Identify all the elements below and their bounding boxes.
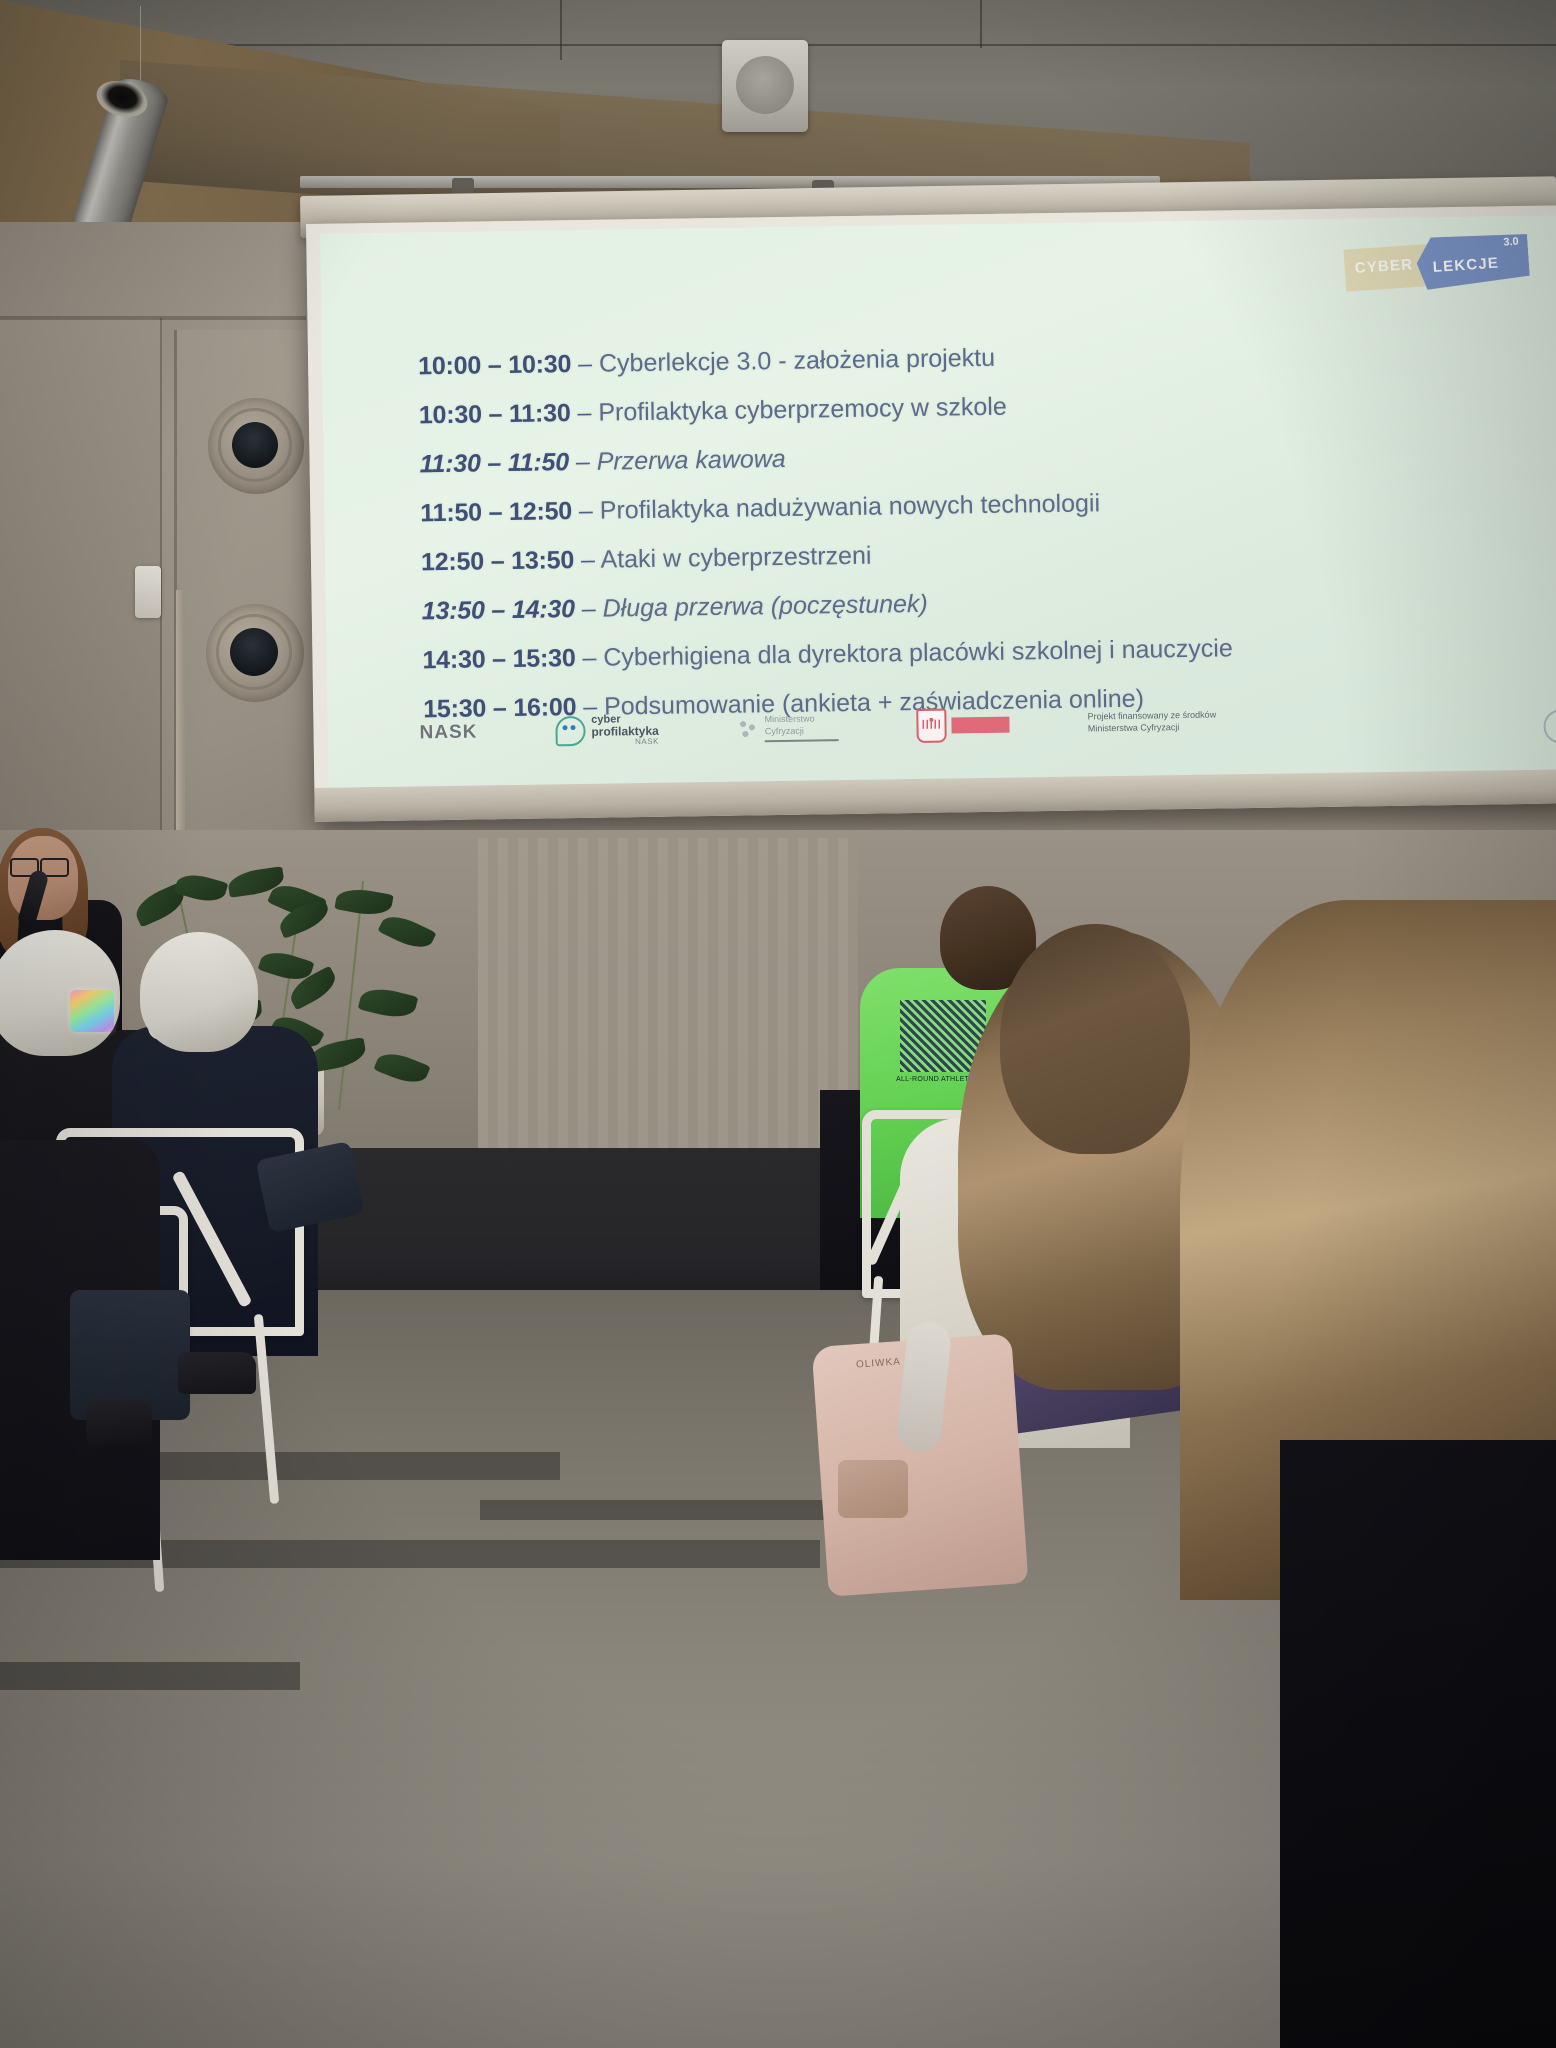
agenda-time: 11:30 – 11:50 [419,448,569,478]
agenda-dash: – [577,399,591,427]
agenda-dash: – [582,595,596,623]
agenda-row: 10:00 – 10:30 – Cyberlekcje 3.0 - założe… [418,335,1556,381]
agenda-time: 12:50 – 13:50 [421,546,574,576]
agenda-time: 11:50 – 12:50 [420,497,572,527]
agenda-label: Cyberhigiena dla dyrektora placówki szko… [603,634,1233,671]
agenda-label: Ataki w cyberprzestrzeni [600,542,871,574]
cyberlekcje-logo: CYBER LEKCJE 3.0 [1344,230,1525,293]
audience-member-head [140,932,258,1052]
foreground-person-body [1280,1440,1556,2048]
eagle-icon [916,709,947,743]
floor-stripe [480,1500,840,1520]
cyberprofilaktyka-face-icon [555,716,585,746]
ministry-line2: Cyfryzacji [765,725,839,737]
porthole-hole [230,628,278,676]
agenda-time: 10:00 – 10:30 [418,350,571,380]
phone-screen [70,990,114,1032]
agenda-label: Profilaktyka nadużywania nowych technolo… [600,489,1101,524]
agenda-dash: – [579,497,593,525]
ministry-logo: Ministerstwo Cyfryzacji [737,713,839,742]
logo-version: 3.0 [1503,236,1519,249]
funding-note: Projekt finansowany ze środków Ministers… [1088,710,1217,735]
plant-leaf [334,885,393,918]
floor-stripe [0,1662,300,1690]
flag-bar [952,717,1010,734]
duct-hanging-wire [140,6,141,84]
porthole-hole [232,422,278,468]
agenda-time: 13:50 – 14:30 [422,595,575,625]
wall-thermostat [135,566,161,618]
plant-leaf [373,1047,430,1089]
agenda-label: Cyberlekcje 3.0 - założenia projektu [599,344,995,378]
backpack-patch [838,1460,908,1518]
agenda-label: Przerwa kawowa [597,445,786,476]
agenda-row: 13:50 – 14:30 – Długa przerwa (poczęstun… [422,580,1556,626]
agenda-label: Profilaktyka cyberprzemocy w szkole [598,393,1007,427]
wall-panel-seam [0,316,306,320]
photo-scene: CYBER LEKCJE 3.0 10:00 – 10:30 – Cyberle… [0,0,1556,2048]
agenda-label: Długa przerwa (poczęstunek) [602,590,928,623]
nask-logo: NASK [419,722,477,745]
wall-porthole-vent [208,398,304,494]
funding-line1: Projekt finansowany ze środków [1088,710,1217,724]
agenda-row: 11:30 – 11:50 – Przerwa kawowa [419,433,1556,479]
ministry-glyph-icon [737,717,759,739]
ministry-underline [765,739,839,742]
cyberprofilaktyka-line3: NASK [592,738,659,747]
ministry-text: Ministerstwo Cyfryzacji [765,713,839,742]
wall-porthole-vent [206,604,304,702]
plant-leaf [285,966,340,1011]
agenda-dash: – [576,448,590,476]
presentation-slide: CYBER LEKCJE 3.0 10:00 – 10:30 – Cyberle… [320,215,1556,789]
agenda-dash: – [582,644,596,672]
plant-leaf [377,909,436,954]
ceiling-tile-seam [560,0,562,60]
agenda-dash: – [578,350,592,378]
ceiling-tile-seam [980,0,982,48]
agenda-row: 12:50 – 13:50 – Ataki w cyberprzestrzeni [421,531,1556,577]
agenda-row: 11:50 – 12:50 – Profilaktyka nadużywania… [420,482,1556,528]
plant-leaf [358,984,419,1023]
wall-curtain [478,838,858,1168]
plant-leaf [275,897,332,939]
agenda-dash: – [581,546,595,574]
funding-line2: Ministerstwa Cyfryzacji [1088,722,1217,736]
polish-emblem-logo [916,708,1009,743]
spotlight [452,178,474,194]
shoe [178,1352,256,1394]
projection-screen: CYBER LEKCJE 3.0 10:00 – 10:30 – Cyberle… [306,205,1556,822]
agenda-list: 10:00 – 10:30 – Cyberlekcje 3.0 - założe… [418,335,1556,744]
shoe [86,1400,152,1444]
agenda-row: 10:30 – 11:30 – Profilaktyka cyberprzemo… [419,384,1556,430]
agenda-time: 10:30 – 11:30 [419,399,571,429]
cyberprofilaktyka-text: cyber profilaktyka NASK [591,714,659,748]
agenda-time: 14:30 – 15:30 [422,644,575,674]
ceiling-speaker [722,40,808,132]
agenda-row: 14:30 – 15:30 – Cyberhigiena dla dyrekto… [422,629,1556,675]
cyberprofilaktyka-logo: cyber profilaktyka NASK [555,714,659,748]
audience-member-head [1000,924,1190,1154]
